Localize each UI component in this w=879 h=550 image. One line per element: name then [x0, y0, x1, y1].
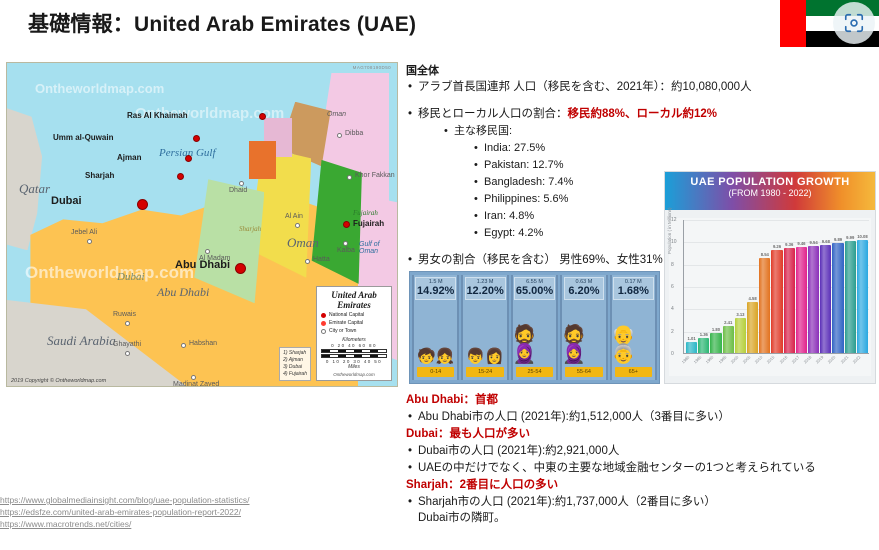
- chart-title: UAE POPULATION GROWTH: [665, 176, 875, 188]
- map-emirate-ajman: [249, 141, 276, 180]
- chart-y-tick: 10: [671, 239, 677, 245]
- map-city-dot: [177, 173, 184, 180]
- chart-bars: 1.011.361.802.413.134.588.549.269.369.46…: [686, 220, 868, 353]
- chart-bar-column: 2.41: [723, 220, 734, 353]
- map-town-label-ruwais: Ruwais: [113, 311, 136, 318]
- age-group-column: 0.63 M 6.20% 🧔🧕 55-64: [560, 275, 607, 380]
- map-legend-source: Ontheworldmap.com: [321, 372, 387, 377]
- chart-y-tick: 4: [671, 306, 674, 312]
- map-town-dot: [347, 175, 352, 180]
- chart-plot-area: Population ( in Millions) 024681012 1.01…: [669, 218, 871, 376]
- legend-row-city-town: City or Town: [321, 328, 387, 334]
- map-label-saudi-arabia: Saudi Arabia: [47, 333, 116, 349]
- chart-bar: [723, 326, 734, 353]
- chart-bar-column: 8.54: [759, 220, 770, 353]
- map-city-label-ajman: Ajman: [117, 153, 141, 162]
- chart-bar-column: 4.58: [747, 220, 758, 353]
- chart-bar-value: 9.89: [834, 237, 842, 242]
- emirate-index-item: 1) Sharjah: [283, 350, 307, 357]
- age-group-range: 65+: [615, 367, 652, 377]
- bullet-total-population: アラブ首長国連邦 人口（移民を含む、2021年）：約10,080,000人: [406, 79, 876, 96]
- scale-km-numbers: 0 20 40 60 80: [321, 343, 387, 348]
- bullet-dubai-finance-center: UAEの中だけでなく、中東の主要な地域金融センターの1つと考えられている: [406, 460, 876, 477]
- age-group-percent: 6.20%: [565, 285, 604, 297]
- chart-y-tick: 8: [671, 262, 674, 268]
- map-town-label-dhaid: Dhaid: [229, 187, 247, 194]
- chart-bar-value: 9.54: [810, 240, 818, 245]
- source-link[interactable]: https://edsfze.com/united-arab-emirates-…: [0, 506, 300, 518]
- age-group-range: 15-24: [466, 367, 503, 377]
- chart-bar-column: 9.36: [784, 220, 795, 353]
- map-city-label-fujairah: Fujairah: [353, 219, 384, 228]
- age-group-stats: 1.5 M 14.92%: [415, 277, 456, 300]
- map-town-label-hatta: Hatta: [313, 256, 330, 263]
- map-label-dubai-emirate: Dubai: [117, 271, 145, 283]
- chart-bar-column: 9.26: [771, 220, 782, 353]
- bullet-main-origin-countries: 主な移民国:: [406, 123, 876, 140]
- age-group-range: 55-64: [565, 367, 602, 377]
- scale-bar-graphic: [321, 354, 387, 358]
- heading-sharjah: Sharjah：2番目に人口の多い: [406, 477, 876, 494]
- age-group-stats: 0.17 M 1.68%: [613, 277, 654, 300]
- chart-y-tick: 6: [671, 284, 674, 290]
- heading-abu-dhabi: Abu Dhabi：首都: [406, 392, 876, 409]
- map-town-dot: [305, 259, 310, 264]
- people-figures-icon: 👴👵: [612, 300, 655, 367]
- chart-bar-value: 8.54: [761, 252, 769, 257]
- age-group-column: 6.55 M 65.00% 🧔🧕 25-54: [511, 275, 558, 380]
- bullet-abu-dhabi-population: Abu Dhabi市の人口 (2021年):約1,512,000人（3番目に多い…: [406, 409, 876, 426]
- age-group-percent: 14.92%: [416, 285, 455, 297]
- map-town-dot: [295, 223, 300, 228]
- map-emirate-index-list: 1) Sharjah 2) Ajman 3) Dubai 4) Fujairah: [279, 347, 311, 381]
- chart-bar: [857, 240, 868, 353]
- chart-bar-value: 9.99: [846, 235, 854, 240]
- map-label-qatar: Qatar: [19, 181, 50, 197]
- age-group-range: 0-14: [417, 367, 454, 377]
- chart-subtitle: (FROM 1980 - 2022): [665, 188, 875, 198]
- chart-bar: [759, 258, 770, 353]
- page-title: 基礎情報：United Arab Emirates (UAE): [28, 8, 416, 38]
- emirate-index-item: 3) Dubai: [283, 364, 307, 371]
- map-town-dot: [125, 351, 130, 356]
- chart-bar: [808, 246, 819, 353]
- map-city-label-umm-al-quwain: Umm al-Quwain: [53, 133, 113, 142]
- chart-bar-column: 1.80: [710, 220, 721, 353]
- age-group-column: 1.5 M 14.92% 🧒👧 0-14: [412, 275, 459, 380]
- map-town-label-madinat-zayed: Madinat Zayed: [173, 381, 219, 387]
- chart-bar-column: 1.01: [686, 220, 697, 353]
- chart-y-tick: 2: [671, 329, 674, 335]
- chart-bar-value: 9.46: [797, 241, 805, 246]
- map-city-dot: [185, 155, 192, 162]
- map-city-dot: [343, 221, 350, 228]
- map-town-label-kalba: Kalba: [337, 247, 355, 254]
- emirate-index-item: 2) Ajman: [283, 357, 307, 364]
- chart-bar-value: 1.80: [712, 327, 720, 332]
- map-town-label-khor-fakkan: Khor Fakkan: [355, 172, 395, 179]
- chart-bar-column: 9.89: [832, 220, 843, 353]
- map-city-dot: [235, 263, 246, 274]
- map-town-label-jebel-ali: Jebel Ali: [71, 229, 97, 236]
- chart-bar: [820, 245, 831, 353]
- chart-x-tick-labels: 1980198519901995200020052010201520162017…: [686, 354, 868, 374]
- age-demographics-image: 1.5 M 14.92% 🧒👧 0-14 1.23 M 12.20% 👦👩 15…: [409, 271, 660, 384]
- chart-bar-column: 9.46: [796, 220, 807, 353]
- chart-bar: [710, 333, 721, 353]
- chart-y-tick: 12: [671, 217, 677, 223]
- map-town-dot: [125, 321, 130, 326]
- legend-label: National Capital: [329, 312, 364, 318]
- source-link[interactable]: https://www.globalmediainsight.com/blog/…: [0, 494, 300, 506]
- chart-bar-column: 1.36: [698, 220, 709, 353]
- chart-bar: [845, 241, 856, 353]
- source-link[interactable]: https://www.macrotrends.net/cities/: [0, 518, 300, 530]
- uae-map-image: Ontheworldmap.com Ontheworldmap.com Onth…: [6, 62, 398, 387]
- map-label-oman: Oman: [287, 235, 319, 251]
- sources-list: https://www.globalmediainsight.com/blog/…: [0, 494, 300, 530]
- chart-bar-value: 1.36: [700, 332, 708, 337]
- chart-bar-value: 9.36: [785, 242, 793, 247]
- chart-bar-column: 9.99: [845, 220, 856, 353]
- map-code-text: MAG708190D50: [353, 65, 391, 70]
- chart-bar: [735, 318, 746, 353]
- map-label-sharjah-emirate: Sharjah: [239, 225, 261, 233]
- age-group-percent: 1.68%: [614, 285, 653, 297]
- chart-header: UAE POPULATION GROWTH (FROM 1980 - 2022): [665, 172, 875, 210]
- text-sharjah-neighbor: Dubai市の隣町。: [406, 511, 876, 526]
- chart-bar-column: 3.13: [735, 220, 746, 353]
- map-label-abu-dhabi-emirate: Abu Dhabi: [157, 285, 209, 300]
- map-town-dot: [239, 181, 244, 186]
- map-city-label-ras-al-khaimah: Ras Al Khaimah: [127, 111, 188, 120]
- map-town-label-ghayathi: Ghayathi: [113, 341, 141, 348]
- map-legend-title: Emirates: [321, 300, 387, 310]
- chart-bar-value: 9.26: [773, 244, 781, 249]
- map-city-dot: [193, 135, 200, 142]
- chart-bar: [832, 243, 843, 353]
- people-figures-icon: 🧔🧕: [513, 300, 556, 367]
- scan-camera-icon[interactable]: [833, 2, 875, 44]
- map-town-label-dibba: Dibba: [345, 130, 363, 137]
- chart-bar-value: 4.58: [749, 296, 757, 301]
- people-figures-icon: 👦👩: [466, 300, 503, 367]
- chart-bar: [747, 302, 758, 353]
- emirate-capital-dot-icon: [321, 321, 326, 326]
- origin-item-india: India: 27.5%: [406, 140, 876, 157]
- scale-bar-graphic: [321, 349, 387, 353]
- map-label-oman-north: Oman: [327, 111, 346, 118]
- legend-label: City or Town: [329, 328, 356, 334]
- map-label-gulf-of-oman: Gulf ofOman: [359, 241, 380, 255]
- legend-row-national-capital: National Capital: [321, 312, 387, 318]
- map-legend-title: United Arab: [321, 290, 387, 300]
- chart-bar: [698, 338, 709, 353]
- heading-dubai: Dubai：最も人口が多い: [406, 426, 876, 443]
- map-town-dot: [87, 239, 92, 244]
- age-group-stats: 0.63 M 6.20%: [564, 277, 605, 300]
- chart-bar-value: 2.41: [724, 320, 732, 325]
- section-heading-country: 国全体: [406, 62, 876, 78]
- flag-red-band: [780, 0, 806, 47]
- map-town-dot: [343, 241, 348, 246]
- chart-bar: [686, 342, 697, 353]
- slide-canvas: 基礎情報：United Arab Emirates (UAE): [0, 0, 879, 550]
- spacer: [406, 96, 876, 106]
- bullet-sharjah-population: Sharjah市の人口 (2021年):約1,737,000人（2番目に多い）: [406, 494, 876, 511]
- cities-section: Abu Dhabi：首都 Abu Dhabi市の人口 (2021年):約1,51…: [406, 392, 876, 526]
- chart-bar-column: 9.68: [820, 220, 831, 353]
- chart-bar: [784, 248, 795, 353]
- map-town-dot: [181, 343, 186, 348]
- chart-bar: [796, 247, 807, 353]
- age-group-stats: 1.23 M 12.20%: [465, 277, 506, 300]
- population-growth-chart: UAE POPULATION GROWTH (FROM 1980 - 2022)…: [664, 171, 876, 384]
- bullet-migrant-ratio: 移民とローカル人口の割合：移民約88%、ローカル約12%: [406, 106, 876, 123]
- map-town-label-habshan: Habshan: [189, 340, 217, 347]
- migrant-ratio-value: 移民約88%、ローカル約12%: [568, 108, 718, 120]
- age-group-stats: 6.55 M 65.00%: [514, 277, 555, 300]
- chart-bar: [771, 250, 782, 353]
- chart-bar-column: 10.08: [857, 220, 868, 353]
- chart-y-axis-label: Population ( in Millions): [667, 207, 672, 254]
- chart-bar-value: 9.68: [822, 239, 830, 244]
- map-town-dot: [205, 249, 210, 254]
- chart-bar-value: 10.08: [857, 234, 867, 239]
- age-group-percent: 65.00%: [515, 285, 554, 297]
- legend-label: Emirate Capital: [329, 320, 363, 326]
- people-figures-icon: 🧒👧: [417, 300, 454, 367]
- map-town-label-al-madam: Al Madam: [199, 255, 231, 262]
- map-city-dot: [259, 113, 266, 120]
- map-city-dot: [137, 199, 148, 210]
- national-capital-dot-icon: [321, 313, 326, 318]
- map-town-dot: [337, 133, 342, 138]
- map-town-label-al-ain: Al Ain: [285, 213, 303, 220]
- age-group-range: 25-54: [516, 367, 553, 377]
- map-scale-bar: Kilometers 0 20 40 60 80 0 10 20 30 40 5…: [321, 337, 387, 370]
- age-group-percent: 12.20%: [466, 285, 505, 297]
- chart-bar-value: 3.13: [736, 312, 744, 317]
- age-group-column: 1.23 M 12.20% 👦👩 15-24: [461, 275, 508, 380]
- chart-y-tick: 0: [671, 351, 674, 357]
- bullet-dubai-population: Dubai市の人口 (2021年):約2,921,000人: [406, 443, 876, 460]
- people-figures-icon: 🧔🧕: [562, 300, 605, 367]
- chart-bar-value: 1.01: [688, 336, 696, 341]
- legend-row-emirate-capital: Emirate Capital: [321, 320, 387, 326]
- map-copyright: 2019 Copyright © Ontheworldmap.com: [11, 378, 106, 384]
- age-group-column: 0.17 M 1.68% 👴👵 65+: [610, 275, 657, 380]
- map-legend: United Arab Emirates National Capital Em…: [316, 286, 392, 381]
- map-city-label-sharjah: Sharjah: [85, 171, 114, 180]
- chart-bar-column: 9.54: [808, 220, 819, 353]
- city-town-dot-icon: [321, 329, 326, 334]
- emirate-index-item: 4) Fujairah: [283, 371, 307, 378]
- uae-flag-badge: [780, 0, 879, 47]
- map-city-label-dubai: Dubai: [51, 195, 82, 207]
- scale-unit-miles: Miles: [321, 364, 387, 370]
- map-label-fujairah-emirate: Fujairah: [353, 209, 378, 217]
- migrant-ratio-label: 移民とローカル人口の割合：: [418, 108, 568, 120]
- map-town-dot: [191, 375, 196, 380]
